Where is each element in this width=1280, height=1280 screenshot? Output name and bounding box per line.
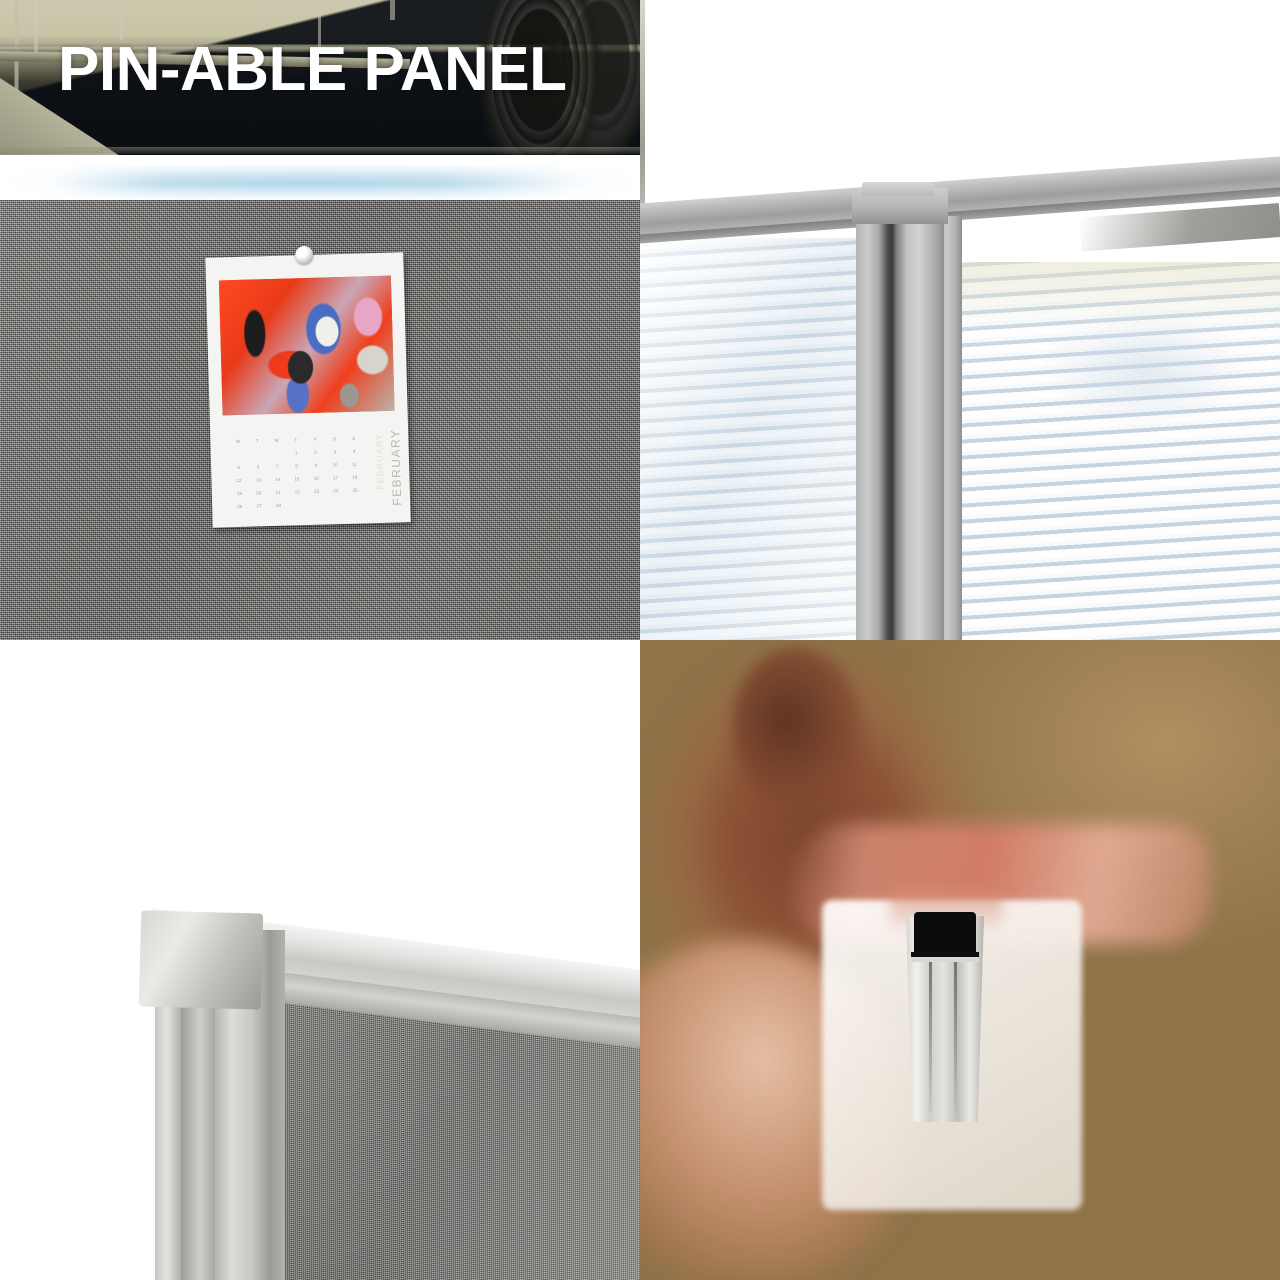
ceiling-rod-icon bbox=[120, 0, 123, 40]
calendar-day-cell: 3 bbox=[325, 445, 345, 459]
calendar-day-cell: 12 bbox=[229, 474, 249, 488]
calendar-day-cell: 14 bbox=[268, 473, 288, 487]
calendar-weekday-header: M bbox=[228, 435, 248, 449]
extrusion-slot-lip bbox=[911, 952, 980, 962]
ceiling-rod-icon bbox=[390, 0, 395, 20]
calendar-day-cell: 23 bbox=[307, 485, 327, 499]
aluminum-extrusion-channel bbox=[906, 912, 984, 1122]
calendar-day-cell: 19 bbox=[230, 487, 250, 501]
light-glow-band bbox=[0, 155, 640, 203]
calendar-day-cell: 11 bbox=[345, 457, 365, 471]
calendar-day-cell: 4 bbox=[344, 444, 364, 458]
headline-pin-able-panel: PIN-ABLE PANEL bbox=[58, 38, 638, 101]
calendar-day-cell: 6 bbox=[248, 460, 268, 474]
calendar-day-cell: 5 bbox=[229, 461, 249, 475]
calendar-day-cell: 7 bbox=[268, 460, 288, 474]
calendar-weekday-header: S bbox=[325, 432, 345, 446]
ceiling-lower-rail bbox=[0, 147, 640, 154]
calendar-month-label: FEBRUARY bbox=[388, 428, 404, 506]
extrusion-groove bbox=[954, 962, 957, 1112]
window-blinds-right bbox=[940, 262, 1280, 640]
aluminum-post-rear bbox=[155, 960, 181, 1280]
calendar-day-cell bbox=[346, 496, 366, 510]
calendar-day-cell bbox=[248, 447, 268, 461]
calendar-day-cell: 28 bbox=[269, 499, 289, 513]
blurred-ear bbox=[732, 648, 862, 808]
calendar-day-cell: 13 bbox=[249, 473, 269, 487]
calendar-day-cell: 25 bbox=[345, 483, 365, 497]
calendar-day-cell bbox=[267, 447, 287, 461]
calendar-day-cell: 2 bbox=[306, 446, 326, 460]
calendar-day-cell: 17 bbox=[326, 471, 346, 485]
calendar-day-cell: 18 bbox=[345, 470, 365, 484]
panel-toolless-assembly: TOOLLESS ASSEMBLY bbox=[640, 640, 1280, 1280]
calendar-day-cell: 15 bbox=[287, 472, 307, 486]
calendar-day-cell: 8 bbox=[287, 459, 307, 473]
window-blinds-left bbox=[640, 238, 892, 640]
calendar-day-cell: 16 bbox=[306, 472, 326, 486]
calendar-day-cell bbox=[229, 448, 249, 462]
panel-light-aircraft-aluminum-frame: LIGHT AIRCRAFT ALUMINUM FRAME bbox=[0, 640, 640, 1280]
calendar-weekday-header: S bbox=[344, 431, 364, 445]
aluminum-connector-post bbox=[856, 210, 944, 640]
feature-collage: MTWTFSS123456789101112131415161718192021… bbox=[0, 0, 1280, 1280]
panel-pin-able-panel: MTWTFSS123456789101112131415161718192021… bbox=[0, 0, 640, 640]
wall-calendar: MTWTFSS123456789101112131415161718192021… bbox=[205, 252, 410, 527]
extrusion-groove bbox=[929, 962, 932, 1112]
calendar-day-cell: 9 bbox=[306, 459, 326, 473]
calendar-day-cell: 1 bbox=[286, 446, 306, 460]
calendar-day-grid: MTWTFSS123456789101112131415161718192021… bbox=[228, 431, 365, 513]
calendar-artwork bbox=[219, 276, 395, 416]
calendar-day-cell bbox=[288, 498, 308, 512]
push-pin-icon bbox=[295, 246, 313, 264]
calendar-day-cell: 27 bbox=[249, 499, 269, 513]
calendar-day-cell bbox=[307, 498, 327, 512]
calendar-day-cell: 24 bbox=[326, 484, 346, 498]
calendar-day-cell: 20 bbox=[249, 486, 269, 500]
calendar-day-cell: 10 bbox=[325, 458, 345, 472]
calendar-day-cell bbox=[326, 497, 346, 511]
calendar-day-cell: 26 bbox=[230, 500, 250, 514]
panel-customizable-configuration: CUSTOMIZABLE CONFIGURATION bbox=[640, 0, 1280, 640]
calendar-day-cell: 22 bbox=[288, 485, 308, 499]
calendar-weekday-header: T bbox=[286, 433, 306, 447]
calendar-weekday-header: F bbox=[305, 433, 325, 447]
calendar-day-cell: 21 bbox=[268, 486, 288, 500]
calendar-weekday-header: W bbox=[267, 434, 287, 448]
aluminum-corner-joint bbox=[139, 910, 263, 1009]
post-cap-top bbox=[862, 182, 934, 196]
calendar-weekday-header: T bbox=[248, 434, 268, 448]
calendar-month-ghost: FEBRUARY bbox=[374, 433, 386, 490]
